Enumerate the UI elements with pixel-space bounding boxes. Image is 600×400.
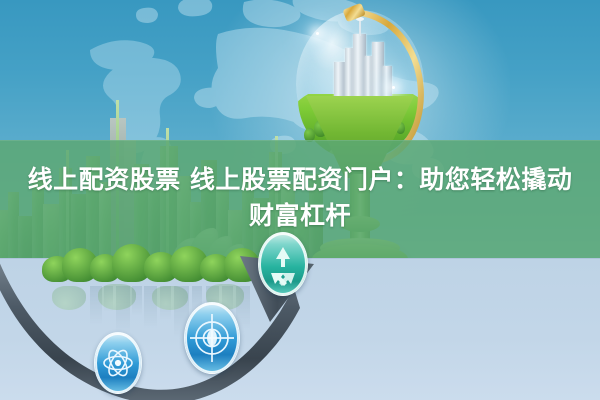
recycle-icon[interactable] xyxy=(258,232,308,296)
page-title: 线上配资股票 线上股票配资门户：助您轻松撬动 财富杠杆 xyxy=(0,162,600,234)
band-top-edge xyxy=(0,140,600,141)
target-crosshair-icon[interactable] xyxy=(184,302,240,374)
banner-image: 线上配资股票 线上股票配资门户：助您轻松撬动 财富杠杆 xyxy=(0,0,600,400)
atom-icon[interactable] xyxy=(94,332,142,394)
